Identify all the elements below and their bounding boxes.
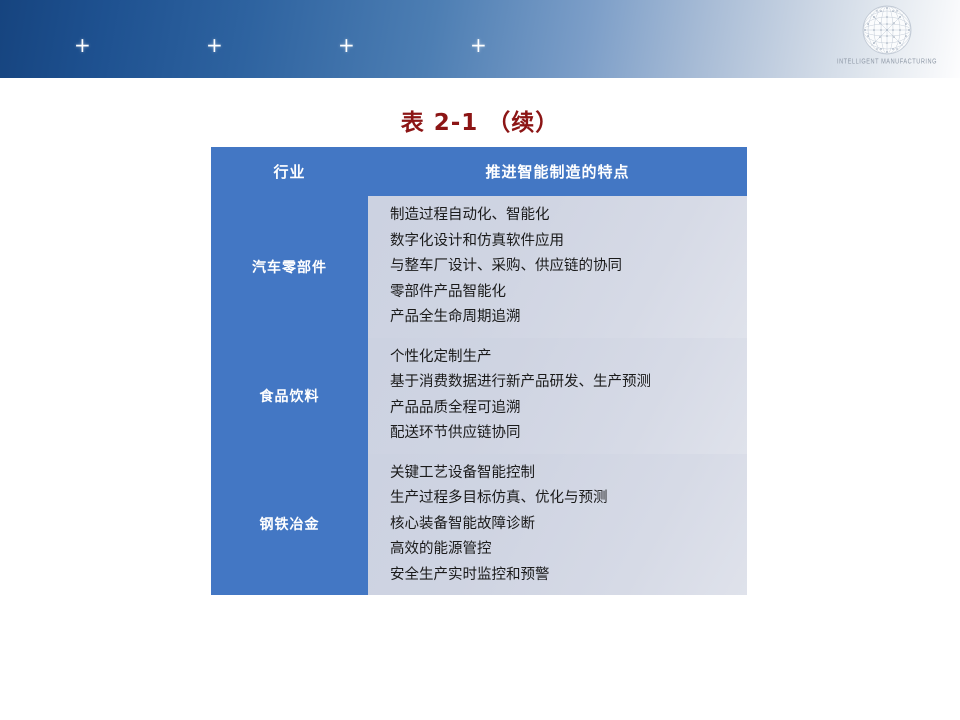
cell-industry-auto-parts: 汽车零部件 [211, 196, 368, 338]
feature-line: 与整车厂设计、采购、供应链的协同 [390, 254, 747, 280]
industry-features-table: 行业 推进智能制造的特点 汽车零部件 制造过程自动化、智能化 数字化设计和仿真软… [211, 147, 747, 595]
feature-line: 制造过程自动化、智能化 [390, 203, 747, 229]
brand-logo: INTELLIGENT MANUFACTURING [828, 2, 946, 74]
column-header-industry: 行业 [211, 147, 368, 196]
feature-line: 基于消费数据进行新产品研发、生产预测 [390, 370, 747, 396]
table-row: 钢铁冶金 关键工艺设备智能控制 生产过程多目标仿真、优化与预测 核心装备智能故障… [211, 454, 747, 596]
feature-line: 安全生产实时监控和预警 [390, 563, 747, 589]
cell-features-steel-metallurgy: 关键工艺设备智能控制 生产过程多目标仿真、优化与预测 核心装备智能故障诊断 高效… [368, 454, 747, 596]
feature-line: 关键工艺设备智能控制 [390, 461, 747, 487]
feature-line: 产品品质全程可追溯 [390, 396, 747, 422]
feature-line: 个性化定制生产 [390, 345, 747, 371]
cell-features-auto-parts: 制造过程自动化、智能化 数字化设计和仿真软件应用 与整车厂设计、采购、供应链的协… [368, 196, 747, 338]
feature-line: 生产过程多目标仿真、优化与预测 [390, 486, 747, 512]
page-title: 表 2-1 （续） [0, 103, 960, 137]
table-header-row: 行业 推进智能制造的特点 [211, 147, 747, 196]
table-row: 汽车零部件 制造过程自动化、智能化 数字化设计和仿真软件应用 与整车厂设计、采购… [211, 196, 747, 338]
table-header: 行业 推进智能制造的特点 [211, 147, 747, 196]
feature-line: 高效的能源管控 [390, 537, 747, 563]
column-header-features: 推进智能制造的特点 [368, 147, 747, 196]
dotted-sphere-logo-icon [859, 2, 915, 58]
feature-line: 零部件产品智能化 [390, 280, 747, 306]
header-banner: + + + + [0, 0, 960, 78]
feature-line: 核心装备智能故障诊断 [390, 512, 747, 538]
feature-line: 配送环节供应链协同 [390, 421, 747, 447]
plus-decoration-icon-3: + [338, 35, 355, 55]
plus-decoration-icon-4: + [470, 35, 487, 55]
plus-decoration-icon-1: + [74, 35, 91, 55]
cell-features-food-beverage: 个性化定制生产 基于消费数据进行新产品研发、生产预测 产品品质全程可追溯 配送环… [368, 338, 747, 454]
plus-decoration-icon-2: + [206, 35, 223, 55]
table-row: 食品饮料 个性化定制生产 基于消费数据进行新产品研发、生产预测 产品品质全程可追… [211, 338, 747, 454]
feature-line: 数字化设计和仿真软件应用 [390, 229, 747, 255]
cell-industry-steel-metallurgy: 钢铁冶金 [211, 454, 368, 596]
table-body: 汽车零部件 制造过程自动化、智能化 数字化设计和仿真软件应用 与整车厂设计、采购… [211, 196, 747, 595]
logo-caption: INTELLIGENT MANUFACTURING [828, 58, 946, 66]
feature-line: 产品全生命周期追溯 [390, 305, 747, 331]
cell-industry-food-beverage: 食品饮料 [211, 338, 368, 454]
